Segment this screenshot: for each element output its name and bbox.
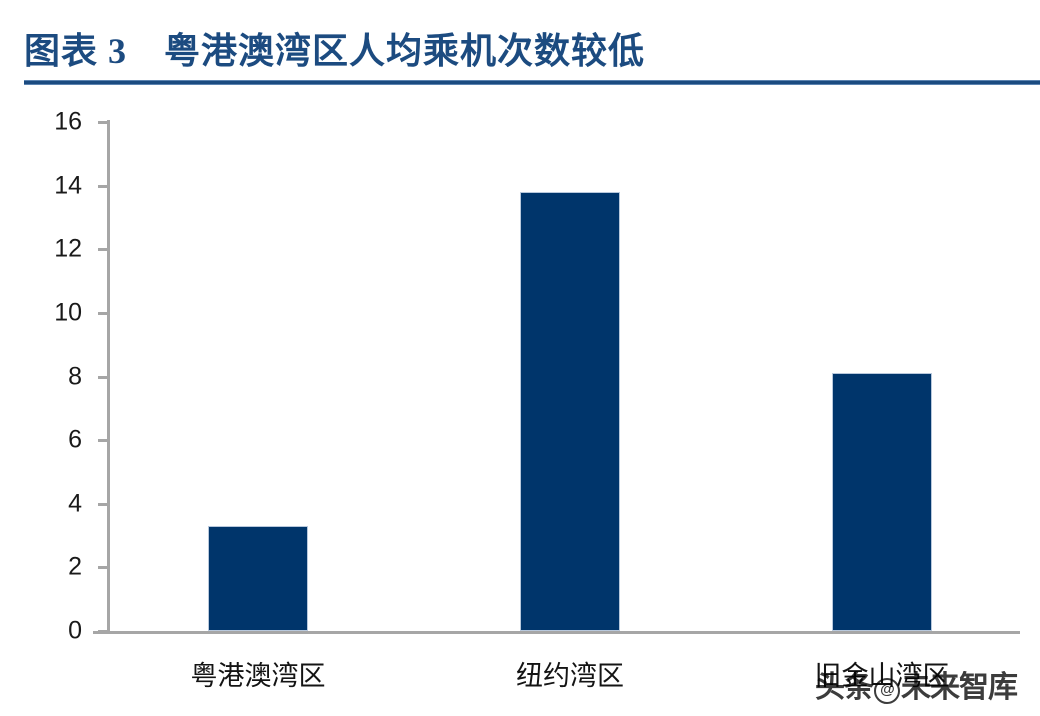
y-axis-tick-label: 16: [12, 108, 82, 137]
y-axis-tick-label: 8: [12, 362, 82, 391]
title-divider: [24, 80, 1040, 85]
y-axis-labels: 0246810121416: [0, 90, 110, 716]
bar-2: [520, 192, 620, 631]
watermark: 头条@未来智库: [815, 662, 1017, 706]
x-axis-tick-label: 纽约湾区: [420, 654, 720, 693]
y-axis-tick-label: 14: [12, 171, 82, 200]
y-axis-tick-label: 6: [12, 426, 82, 455]
y-axis-tick-label: 10: [12, 298, 82, 327]
bar-1: [208, 526, 308, 631]
watermark-suffix: 未来智库: [901, 671, 1017, 704]
y-axis-tick-label: 4: [12, 489, 82, 518]
watermark-prefix: 头条: [815, 671, 873, 704]
plot-area: [110, 122, 1020, 631]
y-axis-tick-label: 0: [12, 617, 82, 646]
y-axis-tick-label: 2: [12, 553, 82, 582]
y-axis-tick-label: 12: [12, 235, 82, 264]
bar-3: [832, 373, 932, 631]
bar-chart: 0246810121416 粤港澳湾区纽约湾区旧金山湾区: [0, 90, 1040, 716]
figure-header: 图表 3 粤港澳湾区人均乘机次数较低: [0, 0, 1040, 90]
page-title: 图表 3 粤港澳湾区人均乘机次数较低: [24, 22, 645, 74]
x-axis-tick-label: 粤港澳湾区: [108, 654, 408, 693]
x-axis-line: [93, 631, 1020, 634]
at-icon: @: [874, 678, 900, 704]
